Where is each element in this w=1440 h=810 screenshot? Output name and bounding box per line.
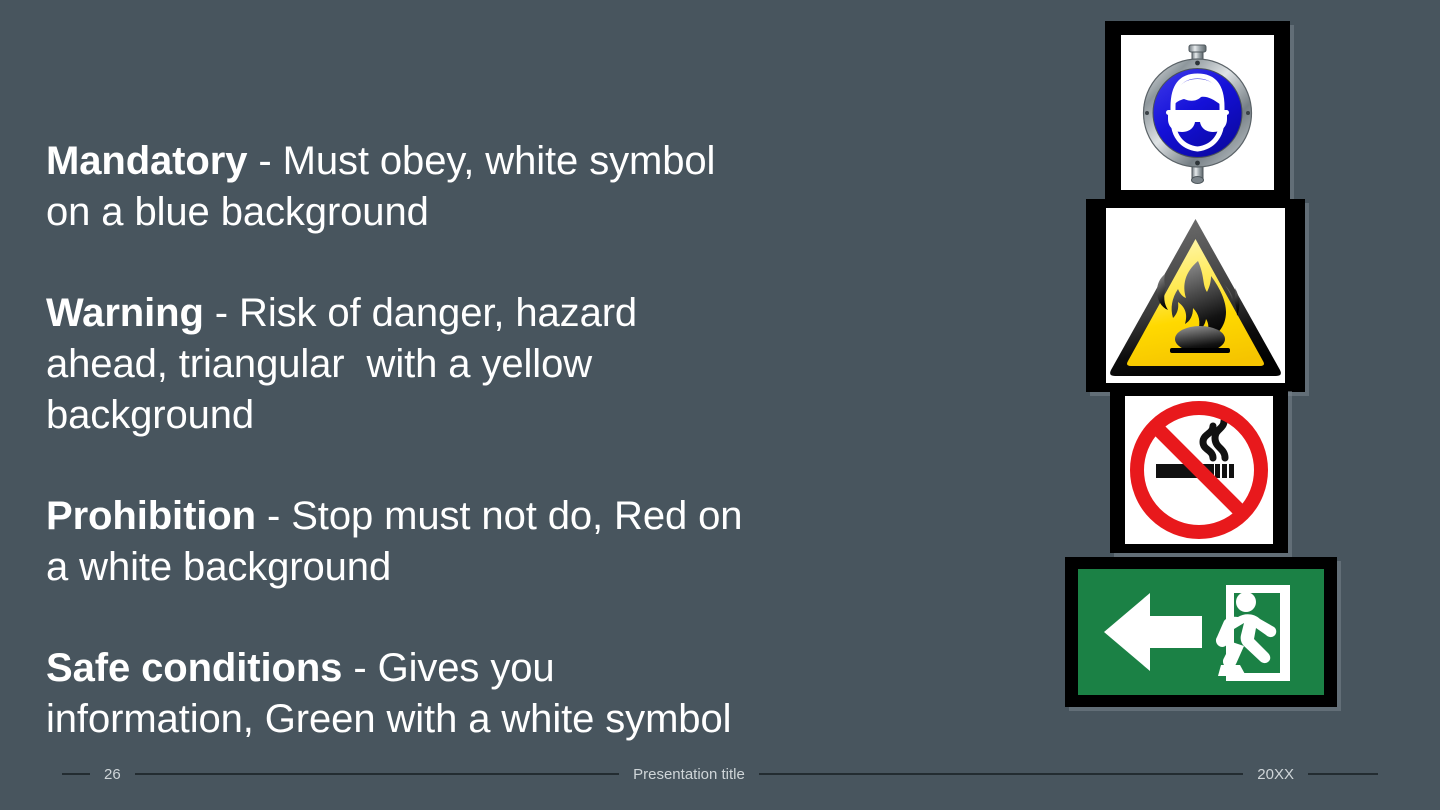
paragraph-safe-conditions: Safe conditions - Gives you information,… [46, 643, 746, 745]
no-smoking-sign-frame [1110, 387, 1288, 553]
footer-presentation-title: Presentation title [619, 767, 759, 782]
flammable-warning-sign-face [1106, 208, 1285, 383]
slide-canvas: Mandatory - Must obey, white symbol on a… [0, 0, 1440, 810]
term-prohibition: Prohibition [46, 494, 256, 538]
safety-sign-stack [1060, 0, 1360, 730]
paragraph-mandatory: Mandatory - Must obey, white symbol on a… [46, 136, 746, 238]
footer-rule-mid-left [135, 773, 619, 775]
footer-rule-mid-right [759, 773, 1243, 775]
footer-year: 20XX [1243, 767, 1308, 782]
footer-rule-right [1308, 773, 1378, 775]
eye-protection-sign-frame [1105, 21, 1290, 204]
emergency-exit-icon [1078, 569, 1324, 695]
no-smoking-sign-face [1125, 396, 1273, 544]
flammable-warning-sign-frame [1086, 199, 1305, 392]
emergency-exit-sign-frame [1065, 557, 1337, 707]
body-text-block: Mandatory - Must obey, white symbol on a… [46, 96, 746, 785]
paragraph-prohibition: Prohibition - Stop must not do, Red on a… [46, 491, 746, 593]
emergency-exit-sign-face [1078, 569, 1324, 695]
eye-protection-icon [1121, 35, 1274, 190]
paragraph-warning: Warning - Risk of danger, hazard ahead, … [46, 288, 746, 441]
no-smoking-icon [1125, 396, 1273, 544]
term-safe-conditions: Safe conditions [46, 646, 342, 690]
term-mandatory: Mandatory [46, 139, 247, 183]
eye-protection-sign-face [1121, 35, 1274, 190]
flammable-warning-icon [1106, 208, 1285, 383]
term-warning: Warning [46, 291, 204, 335]
slide-footer: 26 Presentation title 20XX [0, 762, 1440, 786]
footer-rule-left [62, 773, 90, 775]
footer-page-number: 26 [90, 767, 135, 782]
